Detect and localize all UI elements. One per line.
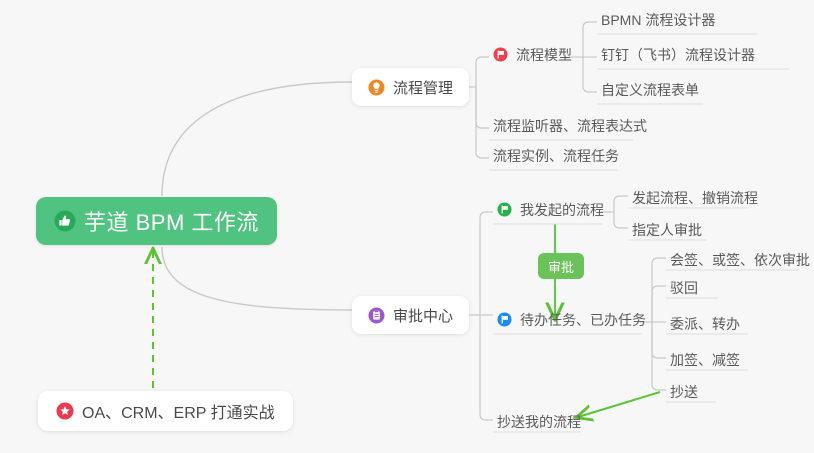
link-todo-to-cc bbox=[652, 322, 666, 390]
link-pm-to-process-model bbox=[476, 57, 489, 87]
leaf-assignee-approval-label: 指定人审批 bbox=[632, 220, 702, 240]
leaf-delegate-transfer-label: 委派、转办 bbox=[670, 314, 740, 334]
node-process-model[interactable]: 流程模型 bbox=[489, 44, 576, 68]
leaf-add-remove-sign-label: 加签、减签 bbox=[670, 350, 740, 370]
leaf-carbon-copy[interactable]: 抄送 bbox=[666, 381, 702, 405]
root-node[interactable]: 芋道 BPM 工作流 bbox=[36, 197, 277, 245]
star-icon bbox=[56, 402, 74, 420]
leaf-bpmn-designer-label: BPMN 流程设计器 bbox=[601, 10, 715, 30]
leaf-cc-to-me-label: 抄送我的流程 bbox=[497, 412, 581, 432]
leaf-carbon-copy-label: 抄送 bbox=[670, 382, 698, 402]
link-root-to-process-management bbox=[162, 82, 352, 196]
leaf-start-cancel-process-label: 发起流程、撤销流程 bbox=[632, 188, 758, 208]
branch-approval-center-label: 审批中心 bbox=[393, 305, 453, 326]
leaf-delegate-transfer[interactable]: 委派、转办 bbox=[666, 313, 744, 337]
link-pm-model-to-customform bbox=[583, 57, 597, 92]
floating-node-oa-crm-erp[interactable]: OA、CRM、ERP 打通实战 bbox=[38, 391, 293, 431]
leaf-bpmn-designer[interactable]: BPMN 流程设计器 bbox=[597, 9, 719, 33]
flag-blue-icon bbox=[497, 312, 512, 327]
leaf-countersign[interactable]: 会签、或签、依次审批 bbox=[666, 249, 814, 273]
link-todo-to-addsign bbox=[652, 322, 666, 358]
approval-tag: 审批 bbox=[538, 253, 584, 279]
leaf-add-remove-sign[interactable]: 加签、减签 bbox=[666, 349, 744, 373]
leaf-custom-process-form-label: 自定义流程表单 bbox=[601, 80, 699, 100]
leaf-start-cancel-process[interactable]: 发起流程、撤销流程 bbox=[628, 187, 762, 211]
leaf-custom-process-form[interactable]: 自定义流程表单 bbox=[597, 79, 703, 103]
clipboard-icon bbox=[368, 307, 385, 324]
root-label: 芋道 BPM 工作流 bbox=[84, 205, 259, 237]
leaf-assignee-approval[interactable]: 指定人审批 bbox=[628, 219, 706, 243]
node-process-model-label: 流程模型 bbox=[516, 45, 572, 65]
branch-process-management-label: 流程管理 bbox=[393, 77, 453, 98]
leaf-countersign-label: 会签、或签、依次审批 bbox=[670, 250, 810, 270]
approval-tag-label: 审批 bbox=[548, 257, 574, 276]
green-arrow-cc-flow bbox=[578, 392, 660, 417]
leaf-process-instance-label: 流程实例、流程任务 bbox=[493, 146, 619, 166]
link-todo-to-reject bbox=[652, 286, 666, 322]
link-pm-to-listener bbox=[476, 87, 489, 128]
thumbs-up-icon bbox=[54, 210, 76, 232]
leaf-reject[interactable]: 驳回 bbox=[666, 277, 702, 301]
mindmap-canvas: 芋道 BPM 工作流 OA、CRM、ERP 打通实战 流程管理 bbox=[0, 0, 814, 453]
node-todo-done-tasks-label: 待办任务、已办任务 bbox=[520, 310, 646, 330]
leaf-dingtalk-feishu-designer[interactable]: 钉钉（飞书）流程设计器 bbox=[597, 44, 759, 68]
link-pm-to-instance bbox=[476, 87, 489, 158]
flag-green-icon bbox=[497, 202, 512, 217]
link-mine-to-assignee bbox=[614, 212, 628, 228]
link-mine-to-start bbox=[614, 196, 628, 212]
branch-approval-center[interactable]: 审批中心 bbox=[352, 296, 469, 334]
link-ac-to-my-initiated bbox=[480, 212, 493, 315]
leaf-cc-to-me[interactable]: 抄送我的流程 bbox=[493, 411, 585, 435]
branch-process-management[interactable]: 流程管理 bbox=[352, 68, 469, 106]
leaf-process-listener-label: 流程监听器、流程表达式 bbox=[493, 116, 647, 136]
link-ac-to-cc bbox=[480, 315, 493, 420]
leaf-dingtalk-feishu-designer-label: 钉钉（飞书）流程设计器 bbox=[601, 45, 755, 65]
node-todo-done-tasks[interactable]: 待办任务、已办任务 bbox=[493, 309, 650, 333]
leaf-reject-label: 驳回 bbox=[670, 278, 698, 298]
node-my-initiated-label: 我发起的流程 bbox=[520, 200, 604, 220]
link-pm-model-to-bpmn bbox=[583, 22, 597, 57]
link-root-to-approval-center bbox=[162, 247, 352, 310]
node-my-initiated[interactable]: 我发起的流程 bbox=[493, 199, 608, 223]
leaf-process-listener[interactable]: 流程监听器、流程表达式 bbox=[489, 115, 651, 139]
floating-node-label: OA、CRM、ERP 打通实战 bbox=[82, 399, 275, 423]
leaf-process-instance[interactable]: 流程实例、流程任务 bbox=[489, 145, 623, 169]
lightbulb-icon bbox=[368, 79, 385, 96]
flag-red-icon bbox=[493, 47, 508, 62]
link-todo-to-countersign bbox=[652, 258, 666, 322]
